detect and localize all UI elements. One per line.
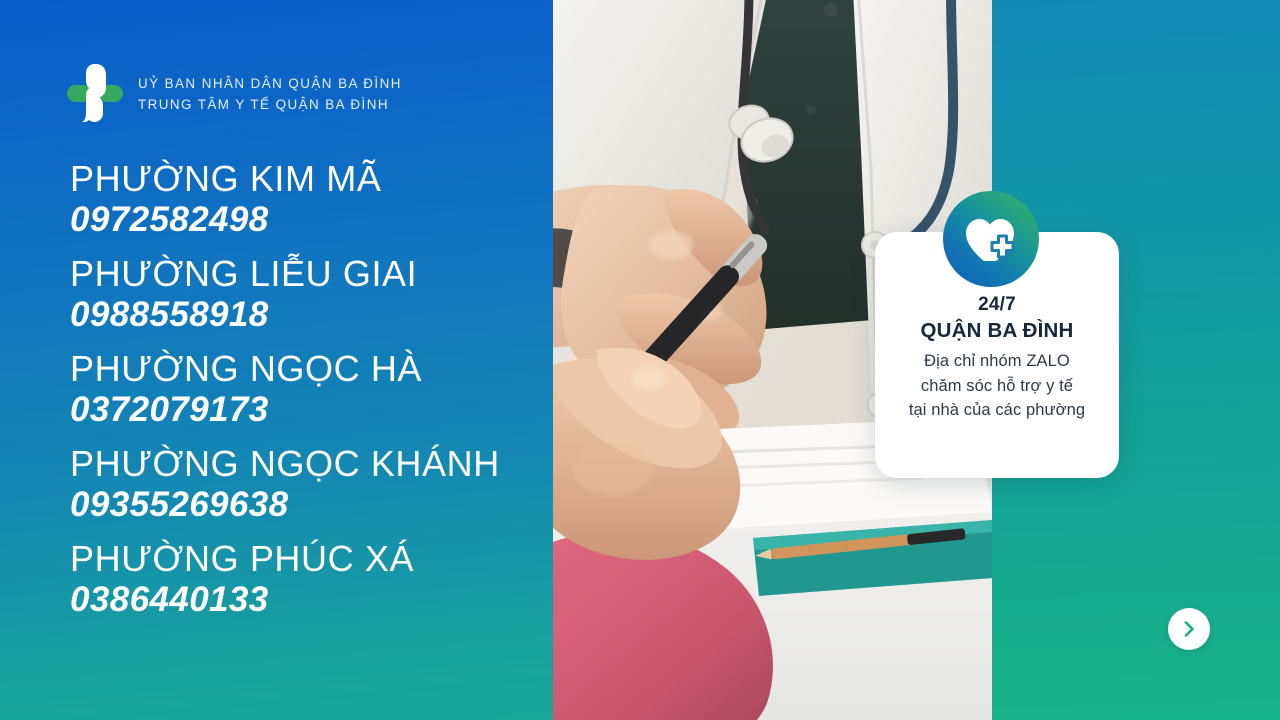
medical-cross-logo-icon: [66, 62, 124, 124]
ward-name: PHƯỜNG LIỄU GIAI: [70, 253, 550, 295]
ward-name: PHƯỜNG NGỌC KHÁNH: [70, 443, 550, 485]
ward-name: PHƯỜNG NGỌC HÀ: [70, 348, 550, 390]
card-description-line-3: tại nhà của các phường: [909, 398, 1085, 422]
ward-phone-number[interactable]: 0386440133: [70, 579, 550, 620]
ward-contact-item: PHƯỜNG NGỌC KHÁNH 09355269638: [70, 443, 550, 525]
ward-contact-item: PHƯỜNG KIM MÃ 0972582498: [70, 158, 550, 240]
ward-contact-item: PHƯỜNG LIỄU GIAI 0988558918: [70, 253, 550, 335]
card-description: Địa chỉ nhóm ZALO chăm sóc hỗ trợ y tế t…: [909, 349, 1085, 422]
left-info-panel: UỶ BAN NHÂN DÂN QUẬN BA ĐÌNH TRUNG TÂM Y…: [0, 0, 553, 720]
ward-phone-number[interactable]: 0372079173: [70, 389, 550, 430]
ward-contact-list: PHƯỜNG KIM MÃ 0972582498 PHƯỜNG LIỄU GIA…: [70, 158, 550, 633]
ward-phone-number[interactable]: 0972582498: [70, 199, 550, 240]
ward-contact-item: PHƯỜNG PHÚC XÁ 0386440133: [70, 538, 550, 620]
chevron-right-icon[interactable]: [1168, 608, 1210, 650]
organization-brand: UỶ BAN NHÂN DÂN QUẬN BA ĐÌNH TRUNG TÂM Y…: [66, 62, 402, 124]
heart-with-medical-cross-icon: [943, 191, 1039, 287]
ward-contact-item: PHƯỜNG NGỌC HÀ 0372079173: [70, 348, 550, 430]
poster-canvas: UỶ BAN NHÂN DÂN QUẬN BA ĐÌNH TRUNG TÂM Y…: [0, 0, 1280, 720]
card-description-line-1: Địa chỉ nhóm ZALO: [909, 349, 1085, 373]
ward-name: PHƯỜNG KIM MÃ: [70, 158, 550, 200]
organization-line-1: UỶ BAN NHÂN DÂN QUẬN BA ĐÌNH: [138, 75, 402, 92]
organization-line-2: TRUNG TÂM Y TẾ QUẬN BA ĐÌNH: [138, 96, 402, 113]
card-description-line-2: chăm sóc hỗ trợ y tế: [909, 374, 1085, 398]
card-hours-label: 24/7: [978, 294, 1016, 317]
card-district-label: QUẬN BA ĐÌNH: [920, 318, 1073, 344]
ward-phone-number[interactable]: 09355269638: [70, 484, 550, 525]
ward-name: PHƯỜNG PHÚC XÁ: [70, 538, 550, 580]
organization-names: UỶ BAN NHÂN DÂN QUẬN BA ĐÌNH TRUNG TÂM Y…: [138, 73, 402, 113]
ward-phone-number[interactable]: 0988558918: [70, 294, 550, 335]
